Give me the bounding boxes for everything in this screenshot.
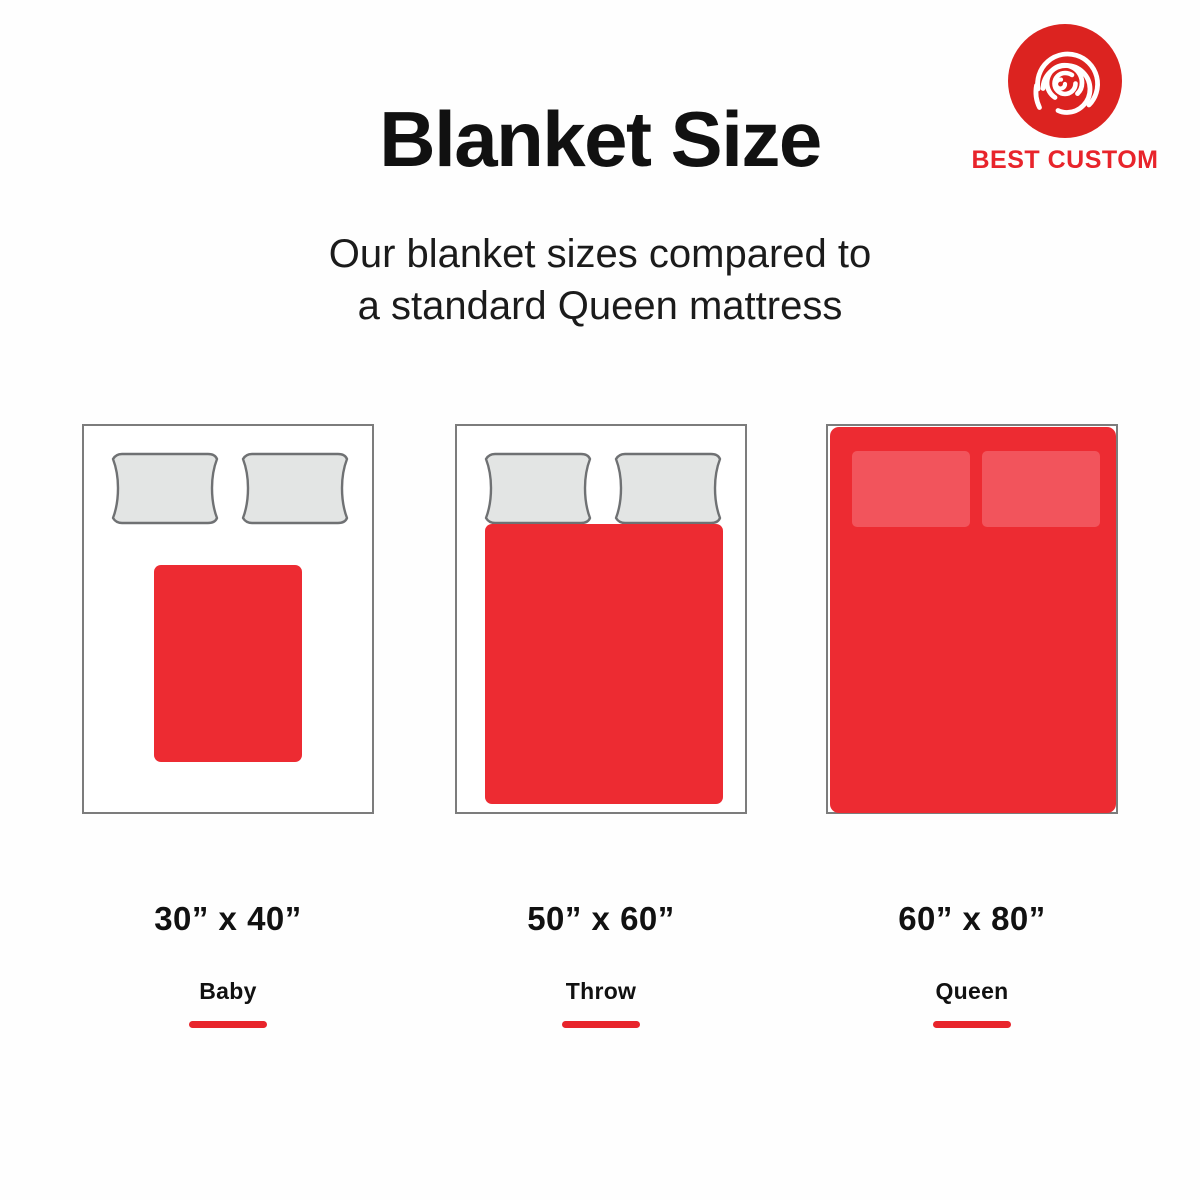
subtitle-line-2: a standard Queen mattress: [0, 280, 1200, 332]
size-dimensions: 30” x 40”: [82, 900, 374, 938]
size-name: Throw: [455, 978, 747, 1005]
pillow-group: [457, 450, 749, 526]
caption-queen: 60” x 80” Queen: [826, 900, 1118, 1028]
bed-diagram-queen: [826, 424, 1118, 814]
pillow-icon: [982, 451, 1100, 527]
blanket-baby: [154, 565, 302, 762]
pillow-icon: [236, 450, 354, 526]
blanket-throw: [485, 524, 723, 804]
accent-underline: [933, 1021, 1011, 1028]
accent-underline: [189, 1021, 267, 1028]
pillow-icon: [106, 450, 224, 526]
pillow-icon: [609, 450, 727, 526]
caption-throw: 50” x 60” Throw: [455, 900, 747, 1028]
subtitle-line-1: Our blanket sizes compared to: [0, 228, 1200, 280]
pillow-group: [84, 450, 376, 526]
size-name: Baby: [82, 978, 374, 1005]
pillow-icon: [479, 450, 597, 526]
caption-group: 30” x 40” Baby 50” x 60” Throw 60” x 80”…: [0, 900, 1200, 1040]
page-subtitle: Our blanket sizes compared to a standard…: [0, 228, 1200, 332]
size-name: Queen: [826, 978, 1118, 1005]
bed-diagram-throw: [455, 424, 747, 814]
infographic-page: BEST CUSTOM Blanket Size Our blanket siz…: [0, 0, 1200, 1200]
caption-baby: 30” x 40” Baby: [82, 900, 374, 1028]
page-title: Blanket Size: [0, 96, 1200, 182]
size-dimensions: 50” x 60”: [455, 900, 747, 938]
pillow-icon: [852, 451, 970, 527]
bed-diagram-baby: [82, 424, 374, 814]
accent-underline: [562, 1021, 640, 1028]
blanket-queen: [830, 427, 1116, 813]
size-dimensions: 60” x 80”: [826, 900, 1118, 938]
bed-diagram-group: [0, 424, 1200, 816]
